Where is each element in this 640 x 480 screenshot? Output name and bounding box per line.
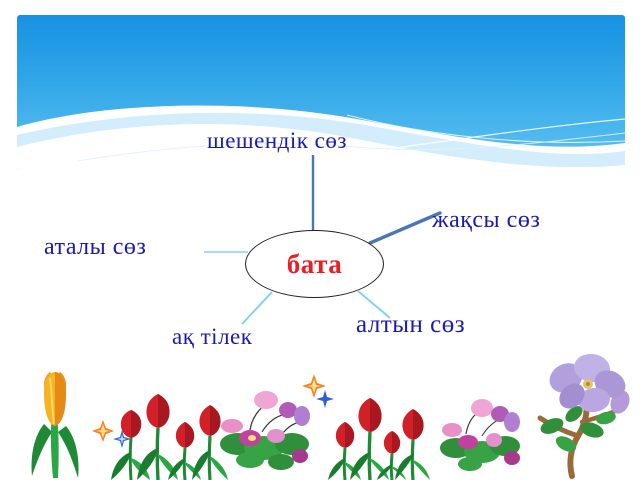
pink-violet-patch-icon-2 [440, 399, 520, 471]
branch-label-left[interactable]: аталы сөз [44, 234, 146, 261]
slide-canvas: бата шешендік сөз жақсы сөз аталы сөз ал… [0, 0, 640, 480]
blue-sparkle-icon-2 [316, 390, 334, 408]
red-tulip-cluster-icon-2 [328, 398, 430, 480]
orange-sparkle-icon-2 [302, 374, 326, 398]
purple-violet-branch-icon [538, 352, 633, 476]
orange-sparkle-icon [92, 420, 114, 442]
connector-bottom-left [242, 292, 272, 324]
center-node[interactable]: бата [245, 230, 384, 298]
pink-violet-patch-icon [220, 391, 310, 470]
center-node-label: бата [287, 249, 342, 280]
branch-label-bottom-left[interactable]: ақ тілек [172, 324, 252, 350]
flower-decoration-strip [0, 352, 640, 480]
red-tulip-cluster-icon [111, 394, 228, 480]
connector-right [370, 213, 440, 243]
branch-label-bottom-right[interactable]: алтын сөз [356, 311, 465, 339]
branch-label-top[interactable]: шешендік сөз [207, 128, 347, 154]
branch-label-right[interactable]: жақсы сөз [432, 207, 540, 234]
orange-tulip-icon [32, 372, 79, 478]
